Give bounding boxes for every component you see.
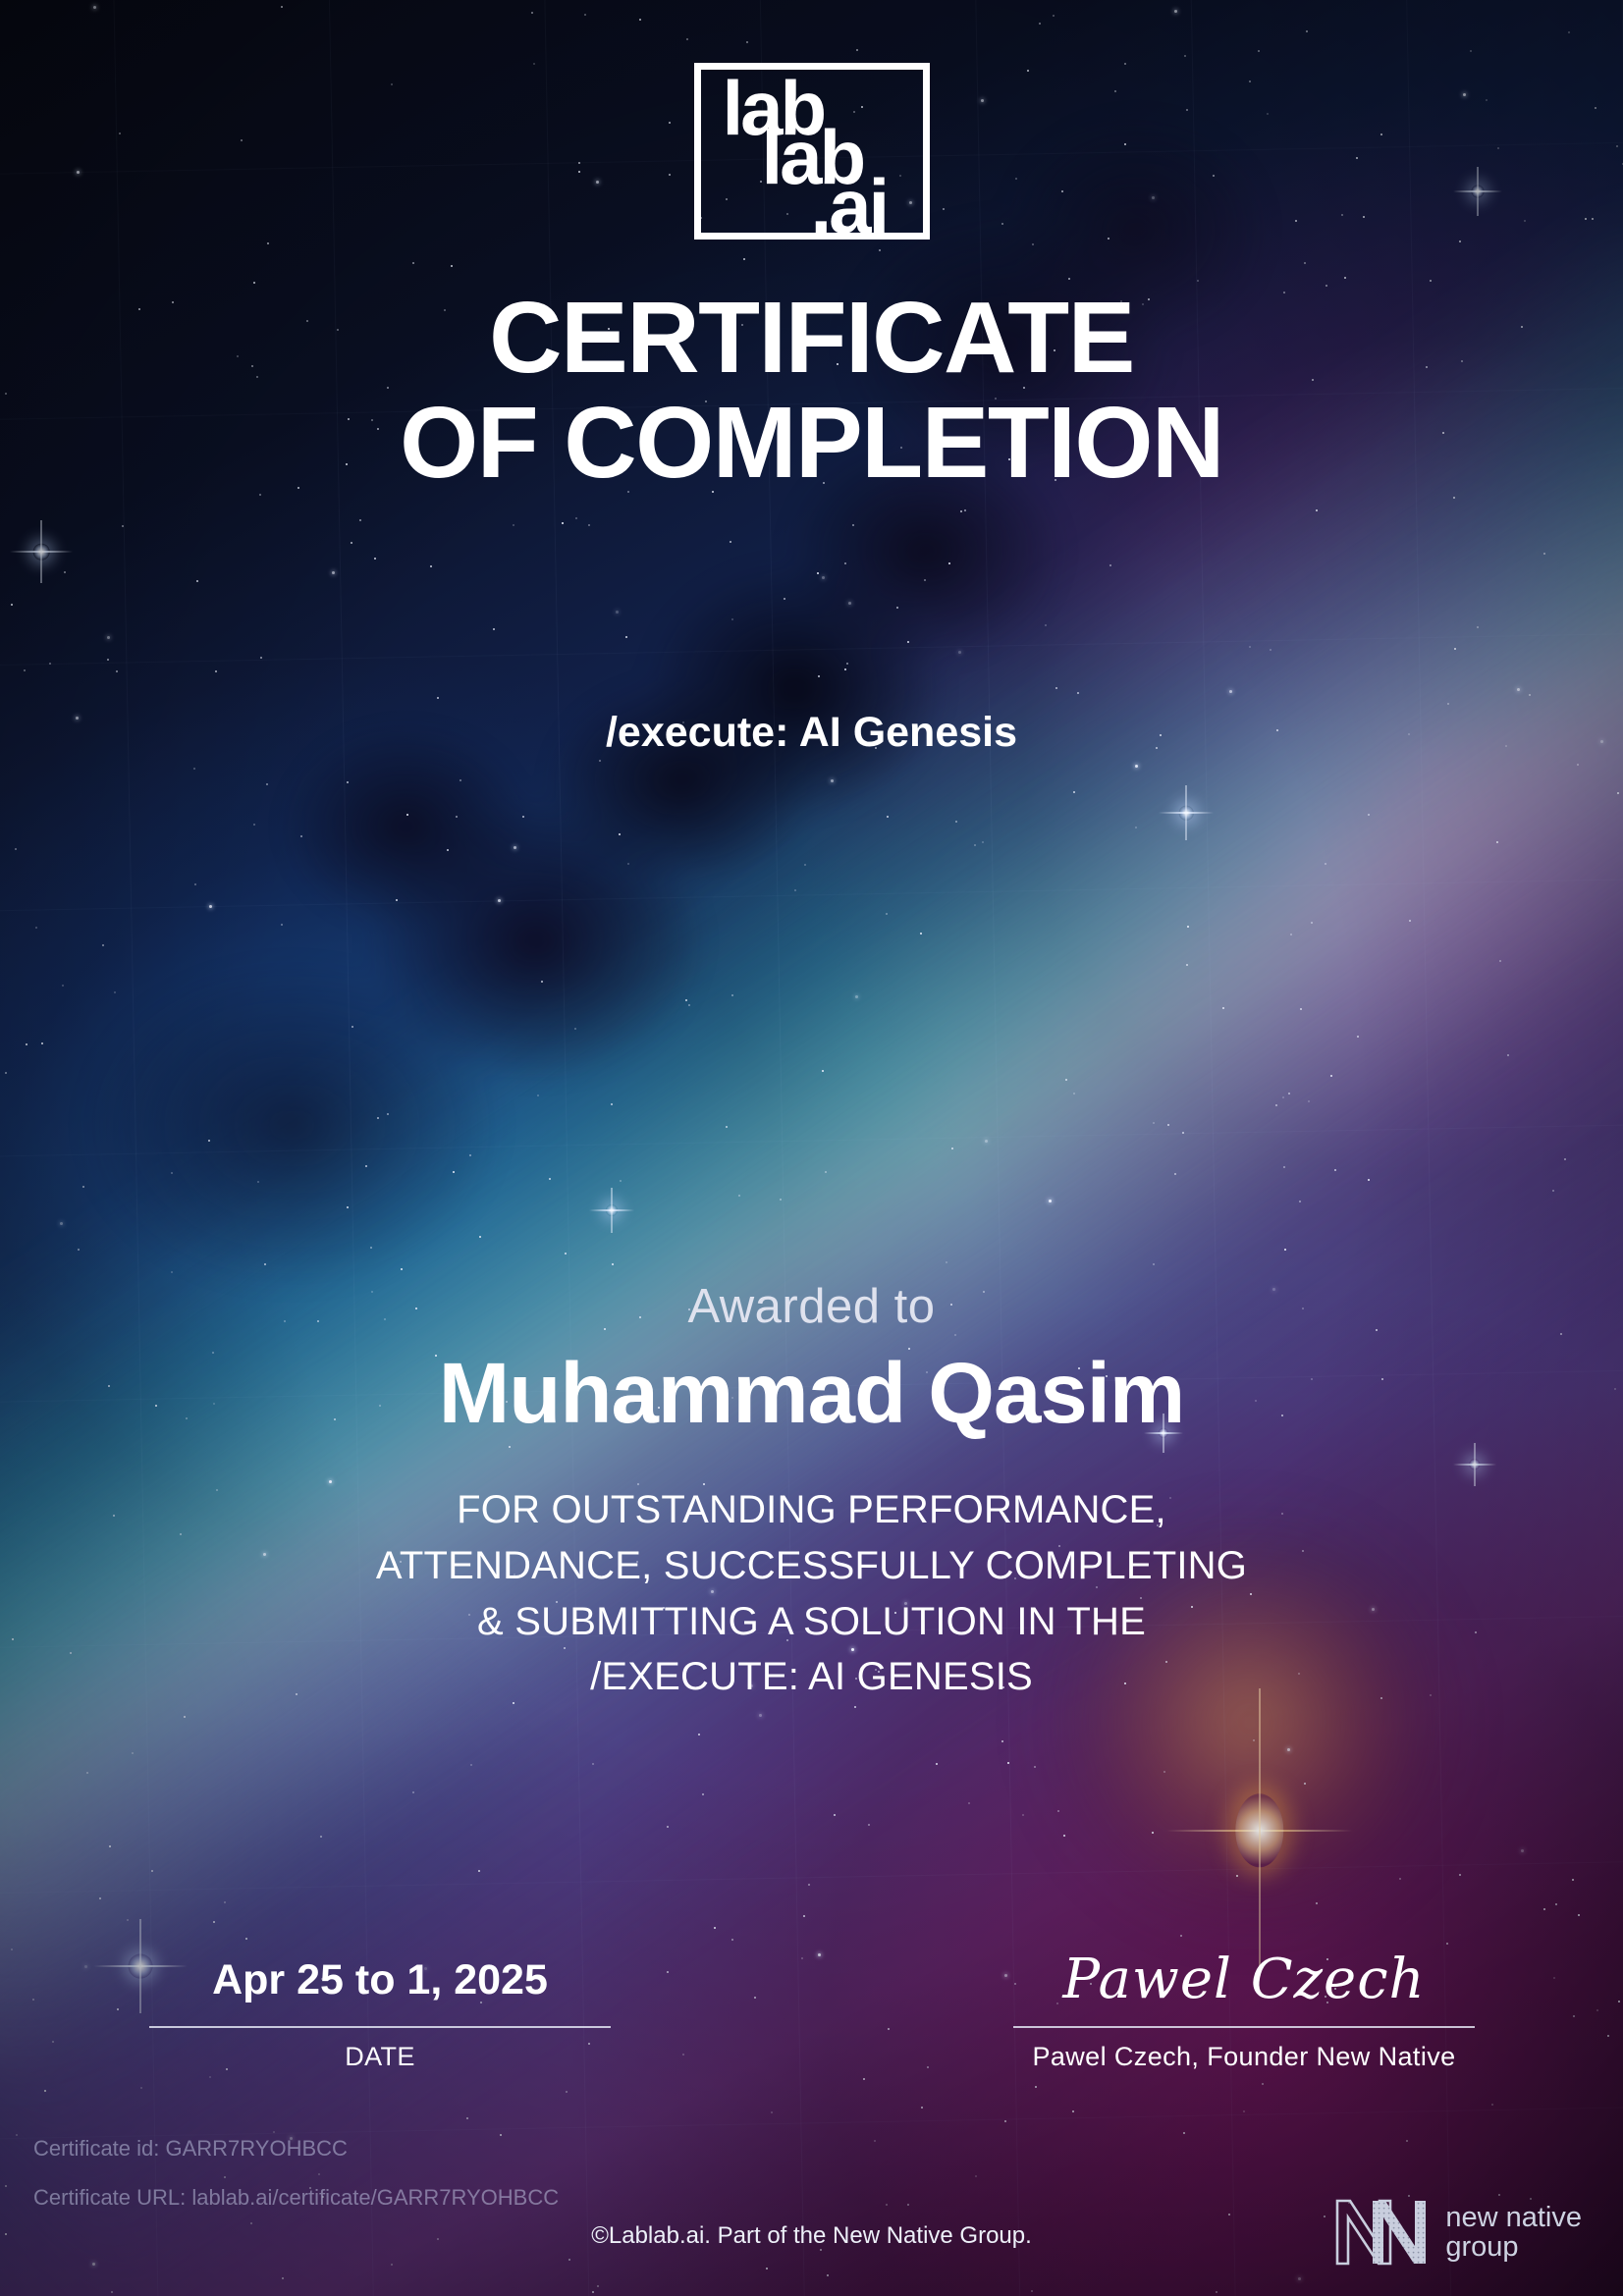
lablab-logo: lab lab .ai bbox=[694, 63, 930, 240]
citation-line: & SUBMITTING A SOLUTION IN THE bbox=[233, 1594, 1391, 1650]
awarded-to-label: Awarded to bbox=[0, 1279, 1623, 1334]
certificate-meta: Certificate id: GARR7RYOHBCC Certificate… bbox=[33, 2138, 559, 2209]
signatory-block: Pawel Czech Pawel Czech, Founder New Nat… bbox=[1013, 1944, 1475, 2072]
date-rule bbox=[149, 2026, 611, 2028]
partner-logo-line-1: new native bbox=[1445, 2203, 1582, 2232]
new-native-group-wordmark: new native group bbox=[1445, 2203, 1582, 2262]
certificate-id: Certificate id: GARR7RYOHBCC bbox=[33, 2138, 559, 2160]
title-line-1: CERTIFICATE bbox=[489, 281, 1134, 394]
citation-line: ATTENDANCE, SUCCESSFULLY COMPLETING bbox=[233, 1538, 1391, 1594]
new-native-group-logo: new native group bbox=[1333, 2197, 1582, 2268]
event-subtitle: /execute: AI Genesis bbox=[0, 709, 1623, 757]
certificate-url[interactable]: Certificate URL: lablab.ai/certificate/G… bbox=[33, 2187, 559, 2209]
citation-line: /EXECUTE: AI GENESIS bbox=[233, 1649, 1391, 1705]
partner-logo-line-2: group bbox=[1445, 2232, 1582, 2262]
signature-row: Apr 25 to 1, 2025 DATE Pawel Czech Pawel… bbox=[0, 1944, 1623, 2140]
date-label: DATE bbox=[149, 2042, 611, 2072]
page-title: CERTIFICATE OF COMPLETION bbox=[0, 285, 1623, 495]
logo-line-3: .ai bbox=[811, 176, 888, 239]
signatory-label: Pawel Czech, Founder New Native bbox=[1013, 2042, 1475, 2072]
nn-monogram-icon bbox=[1333, 2197, 1432, 2268]
certificate-content: lab lab .ai CERTIFICATE OF COMPLETION /e… bbox=[0, 0, 1623, 2296]
recipient-name: Muhammad Qasim bbox=[0, 1345, 1623, 1443]
signature-rule bbox=[1013, 2026, 1475, 2028]
date-value: Apr 25 to 1, 2025 bbox=[149, 1944, 611, 2016]
signature-mark: Pawel Czech bbox=[1013, 1944, 1475, 2016]
certificate-canvas: lab lab .ai CERTIFICATE OF COMPLETION /e… bbox=[0, 0, 1623, 2296]
citation-line: FOR OUTSTANDING PERFORMANCE, bbox=[233, 1482, 1391, 1538]
date-block: Apr 25 to 1, 2025 DATE bbox=[149, 1944, 611, 2072]
citation-text: FOR OUTSTANDING PERFORMANCE, ATTENDANCE,… bbox=[233, 1482, 1391, 1705]
title-line-2: OF COMPLETION bbox=[0, 390, 1623, 495]
